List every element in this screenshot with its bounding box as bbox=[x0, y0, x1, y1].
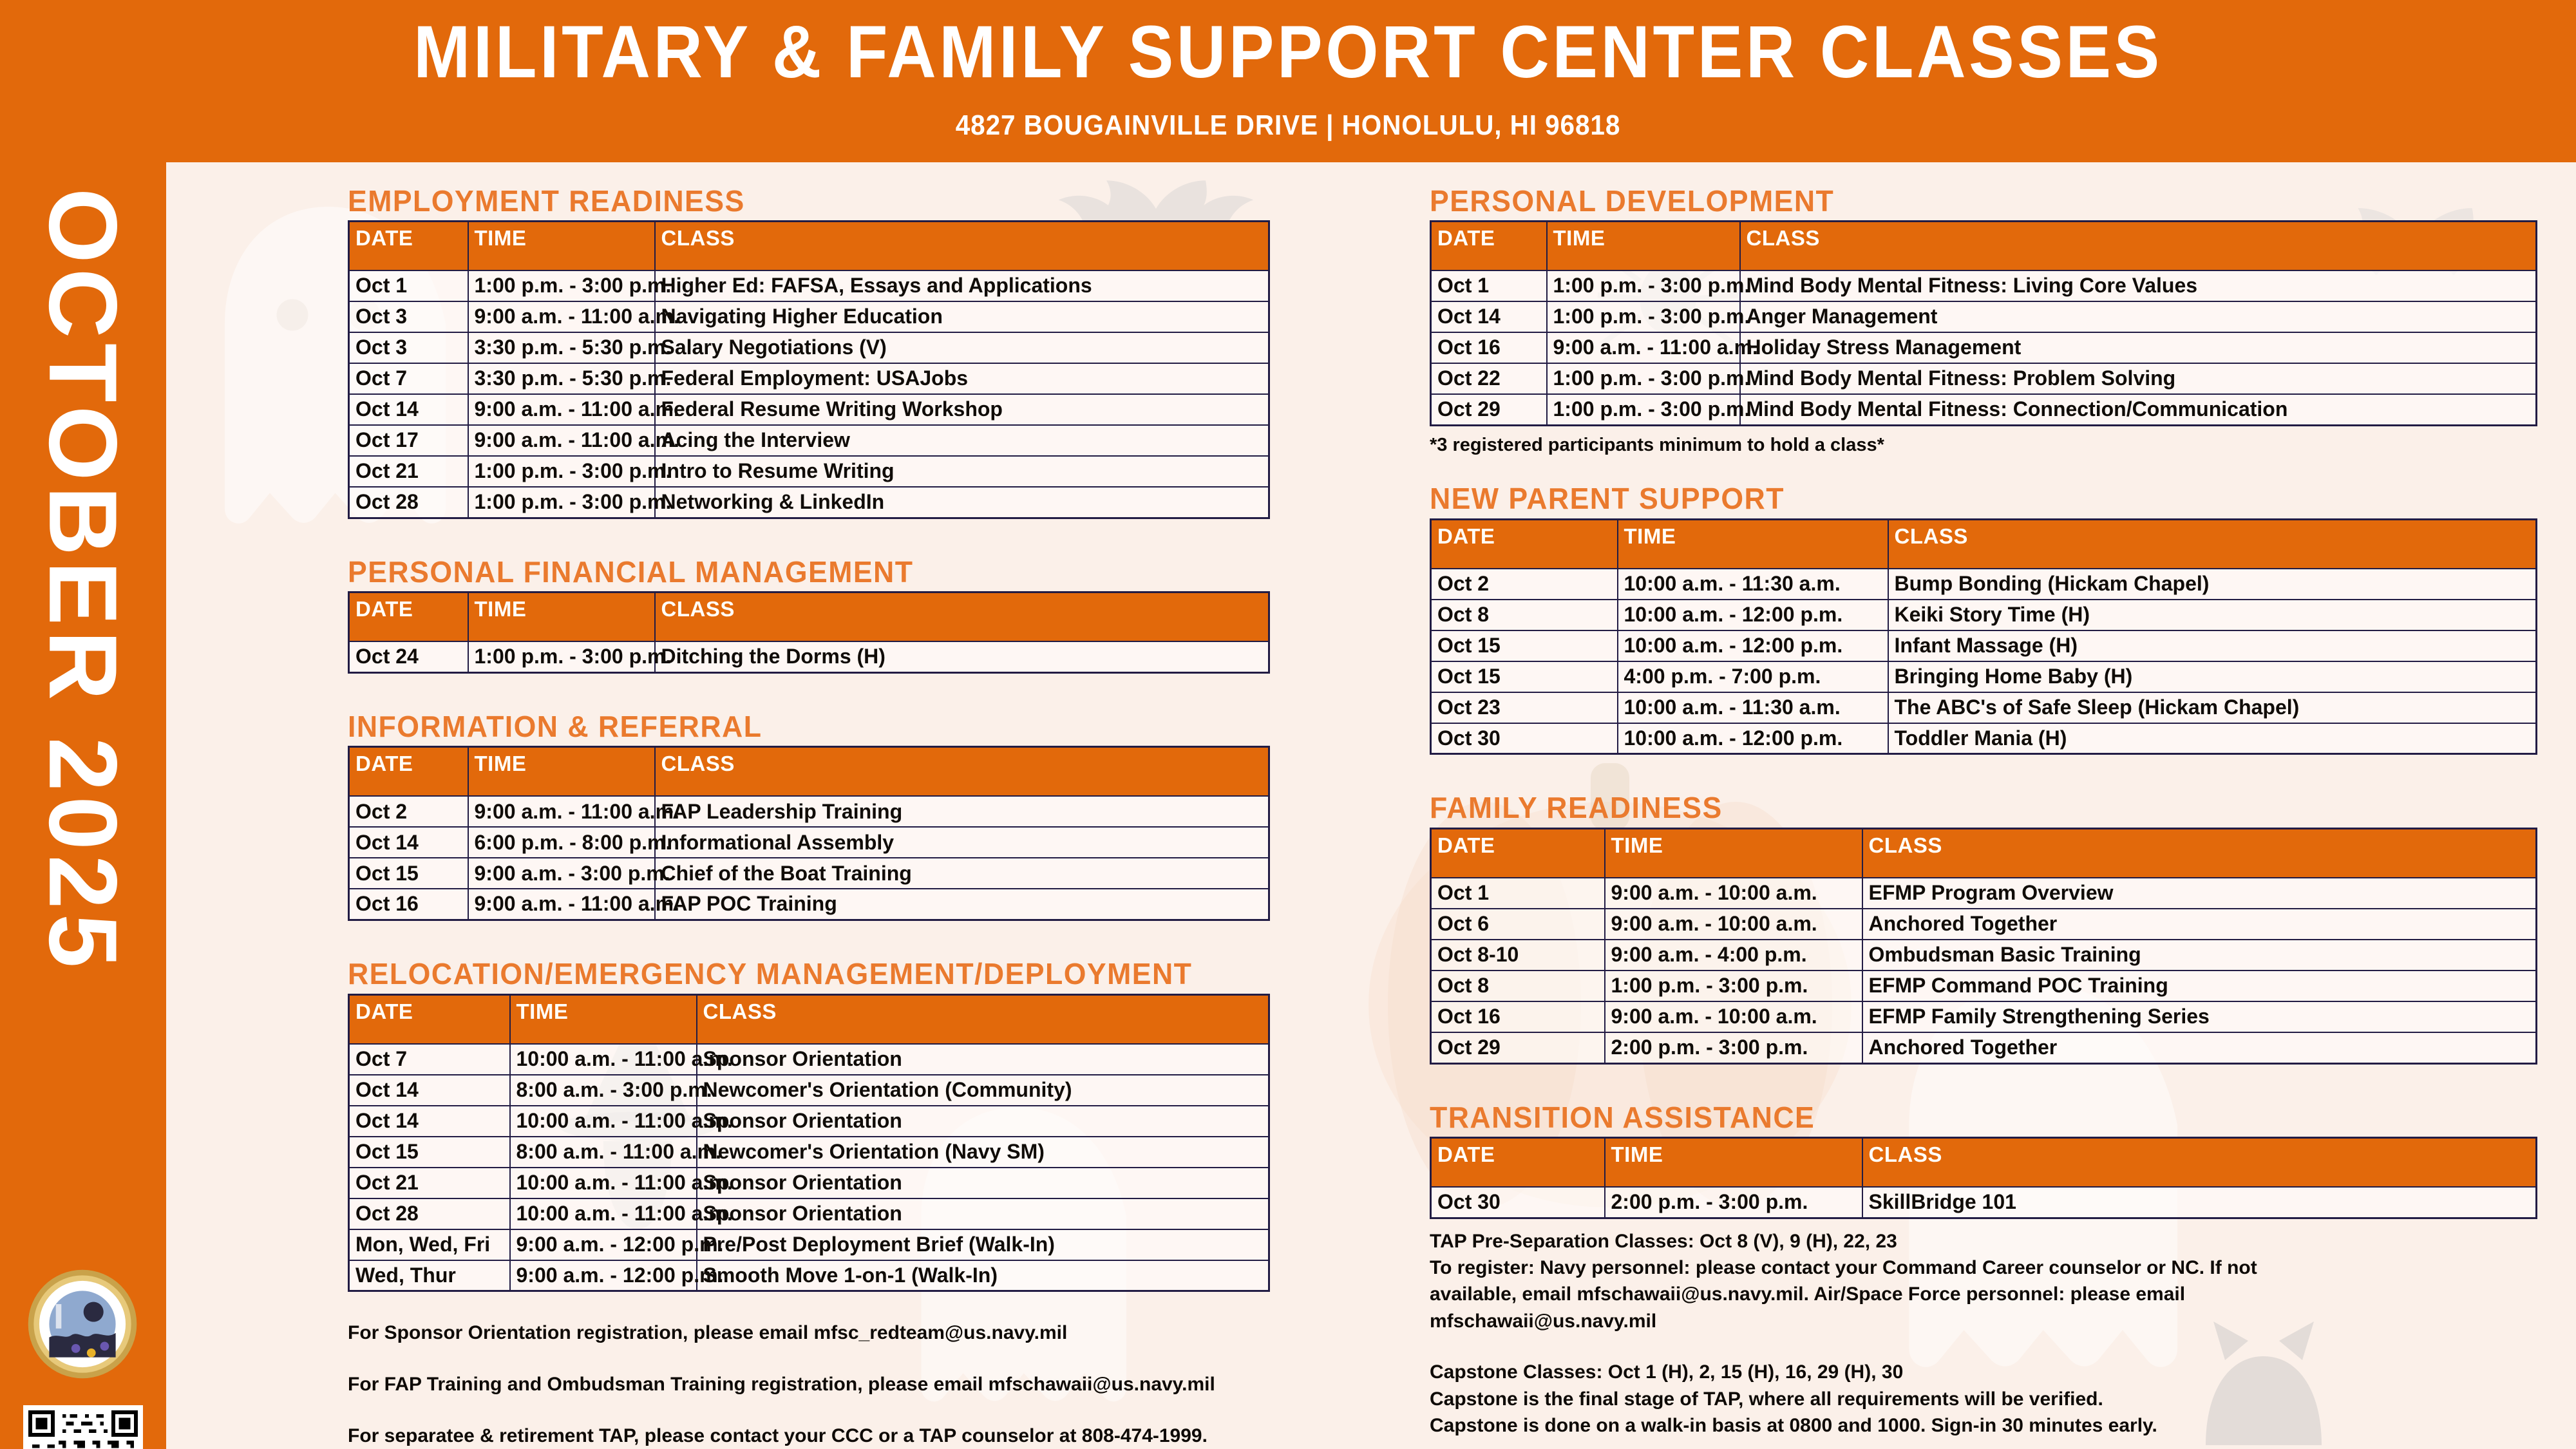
cell-date: Oct 16 bbox=[1431, 1001, 1605, 1032]
cell-time: 1:00 p.m. - 3:00 p.m. bbox=[1547, 301, 1740, 332]
table-header-row: DATE TIME CLASS bbox=[1431, 1137, 2537, 1187]
table-row: Oct 141:00 p.m. - 3:00 p.m.Anger Managem… bbox=[1431, 301, 2537, 332]
cell-class: Sponsor Orientation bbox=[697, 1168, 1269, 1198]
schedule-table: DATE TIME CLASS Oct 210:00 a.m. - 11:30 … bbox=[1430, 518, 2537, 755]
cell-time: 1:00 p.m. - 3:00 p.m. bbox=[1547, 270, 1740, 301]
table-row: Oct 221:00 p.m. - 3:00 p.m.Mind Body Men… bbox=[1431, 363, 2537, 394]
cell-date: Oct 29 bbox=[1431, 394, 1547, 425]
cell-class: SkillBridge 101 bbox=[1862, 1187, 2537, 1218]
cell-date: Oct 1 bbox=[1431, 878, 1605, 909]
cell-class: Intro to Resume Writing bbox=[655, 456, 1269, 487]
cell-class: Mind Body Mental Fitness: Connection/Com… bbox=[1740, 394, 2537, 425]
note-fap-ombudsman: For FAP Training and Ombudsman Training … bbox=[348, 1373, 1294, 1396]
table-row: Oct 154:00 p.m. - 7:00 p.m.Bringing Home… bbox=[1431, 661, 2537, 692]
table-row: Oct 179:00 a.m. - 11:00 a.m.Acing the In… bbox=[349, 425, 1269, 456]
table-row: Oct 158:00 a.m. - 11:00 a.m.Newcomer's O… bbox=[349, 1137, 1269, 1168]
table-header-row: DATE TIME CLASS bbox=[1431, 519, 2537, 569]
cell-time: 1:00 p.m. - 3:00 p.m. bbox=[1547, 394, 1740, 425]
cell-time: 10:00 a.m. - 11:00 a.m. bbox=[510, 1106, 697, 1137]
cell-class: Bringing Home Baby (H) bbox=[1888, 661, 2537, 692]
cell-date: Oct 15 bbox=[1431, 661, 1618, 692]
cell-date: Oct 22 bbox=[1431, 363, 1547, 394]
cell-date: Oct 14 bbox=[349, 1106, 510, 1137]
table-row: Oct 2310:00 a.m. - 11:30 a.m.The ABC's o… bbox=[1431, 692, 2537, 723]
table-row: Oct 211:00 p.m. - 3:00 p.m.Intro to Resu… bbox=[349, 456, 1269, 487]
section-relocation-emergency-deployment: RELOCATION/EMERGENCY MANAGEMENT/DEPLOYME… bbox=[348, 958, 1294, 1292]
table-row: Oct 710:00 a.m. - 11:00 a.m.Sponsor Orie… bbox=[349, 1044, 1269, 1075]
cell-date: Oct 7 bbox=[349, 1044, 510, 1075]
cell-date: Oct 28 bbox=[349, 1198, 510, 1229]
cell-time: 3:30 p.m. - 5:30 p.m. bbox=[468, 363, 655, 394]
section-personal-development: PERSONAL DEVELOPMENT DATE TIME CLASS Oct… bbox=[1430, 185, 2537, 457]
table-row: Oct 210:00 a.m. - 11:30 a.m.Bump Bonding… bbox=[1431, 569, 2537, 600]
cell-date: Oct 21 bbox=[349, 1168, 510, 1198]
cell-class: Anchored Together bbox=[1862, 1032, 2537, 1063]
cell-date: Oct 16 bbox=[349, 889, 468, 920]
cell-date: Mon, Wed, Fri bbox=[349, 1229, 510, 1260]
cell-time: 10:00 a.m. - 11:00 a.m. bbox=[510, 1198, 697, 1229]
table-row: Oct 69:00 a.m. - 10:00 a.m.Anchored Toge… bbox=[1431, 909, 2537, 940]
cell-class: Mind Body Mental Fitness: Living Core Va… bbox=[1740, 270, 2537, 301]
cell-class: Toddler Mania (H) bbox=[1888, 723, 2537, 754]
cell-time: 10:00 a.m. - 11:30 a.m. bbox=[1618, 692, 1888, 723]
table-row: Oct 149:00 a.m. - 11:00 a.m.Federal Resu… bbox=[349, 394, 1269, 425]
cell-date: Oct 14 bbox=[349, 1075, 510, 1106]
cell-time: 10:00 a.m. - 12:00 p.m. bbox=[1618, 600, 1888, 630]
col-header-time: TIME bbox=[1605, 828, 1862, 878]
col-header-date: DATE bbox=[349, 222, 468, 271]
table-row: Oct 3010:00 a.m. - 12:00 p.m.Toddler Man… bbox=[1431, 723, 2537, 754]
cell-time: 10:00 a.m. - 12:00 p.m. bbox=[1618, 723, 1888, 754]
col-header-date: DATE bbox=[1431, 519, 1618, 569]
cell-time: 9:00 a.m. - 11:00 a.m. bbox=[1547, 332, 1740, 363]
col-header-class: CLASS bbox=[1862, 1137, 2537, 1187]
cell-class: Ditching the Dorms (H) bbox=[655, 641, 1269, 672]
cell-date: Oct 7 bbox=[349, 363, 468, 394]
cell-date: Oct 30 bbox=[1431, 1187, 1605, 1218]
table-row: Wed, Thur9:00 a.m. - 12:00 p.m.Smooth Mo… bbox=[349, 1260, 1269, 1291]
table-row: Oct 302:00 p.m. - 3:00 p.m.SkillBridge 1… bbox=[1431, 1187, 2537, 1218]
note-capstone-classes: Capstone Classes: Oct 1 (H), 2, 15 (H), … bbox=[1430, 1359, 2537, 1385]
cell-date: Oct 2 bbox=[1431, 569, 1618, 600]
section-title: PERSONAL FINANCIAL MANAGEMENT bbox=[348, 556, 1266, 587]
cell-date: Oct 8 bbox=[1431, 971, 1605, 1001]
page-title: MILITARY & FAMILY SUPPORT CENTER CLASSES bbox=[103, 15, 2473, 90]
cell-class: Newcomer's Orientation (Community) bbox=[697, 1075, 1269, 1106]
cell-time: 9:00 a.m. - 11:00 a.m. bbox=[468, 301, 655, 332]
table-row: Oct 241:00 p.m. - 3:00 p.m.Ditching the … bbox=[349, 641, 1269, 672]
cell-class: Anger Management bbox=[1740, 301, 2537, 332]
col-header-class: CLASS bbox=[1862, 828, 2537, 878]
cell-class: Holiday Stress Management bbox=[1740, 332, 2537, 363]
section-title: INFORMATION & REFERRAL bbox=[348, 711, 1266, 742]
section-title: EMPLOYMENT READINESS bbox=[348, 185, 1266, 216]
left-column-notes: For Sponsor Orientation registration, pl… bbox=[348, 1321, 1294, 1448]
col-header-class: CLASS bbox=[655, 592, 1269, 642]
cell-time: 8:00 a.m. - 3:00 p.m. bbox=[510, 1075, 697, 1106]
note-tap-register-3: mfschawaii@us.navy.mil bbox=[1430, 1308, 2537, 1334]
cell-time: 10:00 a.m. - 11:30 a.m. bbox=[1618, 569, 1888, 600]
table-row: Oct 1410:00 a.m. - 11:00 a.m.Sponsor Ori… bbox=[349, 1106, 1269, 1137]
cell-date: Oct 21 bbox=[349, 456, 468, 487]
section-family-readiness: FAMILY READINESS DATE TIME CLASS Oct 19:… bbox=[1430, 792, 2537, 1064]
cell-time: 9:00 a.m. - 11:00 a.m. bbox=[468, 425, 655, 456]
cell-time: 9:00 a.m. - 3:00 p.m. bbox=[468, 858, 655, 889]
cell-class: Keiki Story Time (H) bbox=[1888, 600, 2537, 630]
section-title: PERSONAL DEVELOPMENT bbox=[1430, 185, 2504, 216]
cell-date: Oct 15 bbox=[349, 858, 468, 889]
cell-date: Oct 16 bbox=[1431, 332, 1547, 363]
cell-time: 1:00 p.m. - 3:00 p.m. bbox=[468, 487, 655, 518]
table-row: Oct 29:00 a.m. - 11:00 a.m.FAP Leadershi… bbox=[349, 796, 1269, 827]
transition-notes: TAP Pre-Separation Classes: Oct 8 (V), 9… bbox=[1430, 1228, 2537, 1439]
cell-class: Pre/Post Deployment Brief (Walk-In) bbox=[697, 1229, 1269, 1260]
section-employment-readiness: EMPLOYMENT READINESS DATE TIME CLASS Oct… bbox=[348, 185, 1294, 519]
cell-class: Newcomer's Orientation (Navy SM) bbox=[697, 1137, 1269, 1168]
cell-class: Sponsor Orientation bbox=[697, 1106, 1269, 1137]
table-header-row: DATE TIME CLASS bbox=[1431, 222, 2537, 271]
col-header-date: DATE bbox=[349, 592, 468, 642]
note-separatee-tap: For separatee & retirement TAP, please c… bbox=[348, 1425, 1294, 1448]
page-subtitle-address: 4827 BOUGAINVILLE DRIVE | HONOLULU, HI 9… bbox=[103, 109, 2473, 142]
table-header-row: DATE TIME CLASS bbox=[349, 747, 1269, 797]
page-banner: MILITARY & FAMILY SUPPORT CENTER CLASSES… bbox=[0, 0, 2576, 162]
section-title: NEW PARENT SUPPORT bbox=[1430, 483, 2504, 514]
cell-class: Salary Negotiations (V) bbox=[655, 332, 1269, 363]
note-capstone-2: Capstone is done on a walk-in basis at 0… bbox=[1430, 1412, 2537, 1439]
table-row: Oct 19:00 a.m. - 10:00 a.m.EFMP Program … bbox=[1431, 878, 2537, 909]
cell-time: 9:00 a.m. - 11:00 a.m. bbox=[468, 889, 655, 920]
month-label-vertical: OCTOBER 2025 bbox=[0, 162, 166, 1070]
table-row: Oct 291:00 p.m. - 3:00 p.m.Mind Body Men… bbox=[1431, 394, 2537, 425]
section-new-parent-support: NEW PARENT SUPPORT DATE TIME CLASS Oct 2… bbox=[1430, 483, 2537, 755]
cell-class: Ombudsman Basic Training bbox=[1862, 940, 2537, 971]
cell-time: 9:00 a.m. - 12:00 p.m. bbox=[510, 1229, 697, 1260]
table-header-row: DATE TIME CLASS bbox=[349, 592, 1269, 642]
cell-class: FAP Leadership Training bbox=[655, 796, 1269, 827]
note-tap-register-2: available, email mfschawaii@us.navy.mil.… bbox=[1430, 1281, 2537, 1307]
col-header-time: TIME bbox=[468, 222, 655, 271]
cell-date: Oct 23 bbox=[1431, 692, 1618, 723]
cell-time: 2:00 p.m. - 3:00 p.m. bbox=[1605, 1187, 1862, 1218]
table-row: Oct 169:00 a.m. - 11:00 a.m.Holiday Stre… bbox=[1431, 332, 2537, 363]
left-column: EMPLOYMENT READINESS DATE TIME CLASS Oct… bbox=[348, 185, 1294, 1449]
schedule-table: DATE TIME CLASS Oct 29:00 a.m. - 11:00 a… bbox=[348, 746, 1270, 921]
cell-date: Oct 8-10 bbox=[1431, 940, 1605, 971]
cell-date: Oct 17 bbox=[349, 425, 468, 456]
section-title: TRANSITION ASSISTANCE bbox=[1430, 1102, 2504, 1133]
cell-class: Bump Bonding (Hickam Chapel) bbox=[1888, 569, 2537, 600]
schedule-table: DATE TIME CLASS Oct 241:00 p.m. - 3:00 p… bbox=[348, 591, 1270, 674]
poster-root: MILITARY & FAMILY SUPPORT CENTER CLASSES… bbox=[0, 0, 2576, 1449]
table-row: Oct 281:00 p.m. - 3:00 p.m.Networking & … bbox=[349, 487, 1269, 518]
table-row: Oct 39:00 a.m. - 11:00 a.m.Navigating Hi… bbox=[349, 301, 1269, 332]
cell-time: 3:30 p.m. - 5:30 p.m. bbox=[468, 332, 655, 363]
col-header-time: TIME bbox=[1547, 222, 1740, 271]
table-row: Oct 8-109:00 a.m. - 4:00 p.m.Ombudsman B… bbox=[1431, 940, 2537, 971]
table-row: Oct 292:00 p.m. - 3:00 p.m.Anchored Toge… bbox=[1431, 1032, 2537, 1063]
col-header-time: TIME bbox=[468, 592, 655, 642]
cell-time: 8:00 a.m. - 11:00 a.m. bbox=[510, 1137, 697, 1168]
table-row: Oct 159:00 a.m. - 3:00 p.m.Chief of the … bbox=[349, 858, 1269, 889]
table-row: Oct 11:00 p.m. - 3:00 p.m.Mind Body Ment… bbox=[1431, 270, 2537, 301]
col-header-class: CLASS bbox=[655, 222, 1269, 271]
cell-date: Oct 15 bbox=[349, 1137, 510, 1168]
mfsc-seal-icon bbox=[27, 1269, 138, 1379]
table-row: Oct 169:00 a.m. - 11:00 a.m.FAP POC Trai… bbox=[349, 889, 1269, 920]
cell-time: 9:00 a.m. - 10:00 a.m. bbox=[1605, 878, 1862, 909]
note-tap-register-1: To register: Navy personnel: please cont… bbox=[1430, 1255, 2537, 1281]
cell-date: Oct 14 bbox=[349, 394, 468, 425]
cell-class: Informational Assembly bbox=[655, 827, 1269, 858]
col-header-date: DATE bbox=[349, 747, 468, 797]
cell-time: 1:00 p.m. - 3:00 p.m. bbox=[468, 641, 655, 672]
table-header-row: DATE TIME CLASS bbox=[1431, 828, 2537, 878]
cell-time: 4:00 p.m. - 7:00 p.m. bbox=[1618, 661, 1888, 692]
note-capstone-1: Capstone is the final stage of TAP, wher… bbox=[1430, 1386, 2537, 1412]
cell-class: EFMP Family Strengthening Series bbox=[1862, 1001, 2537, 1032]
cell-date: Oct 14 bbox=[349, 827, 468, 858]
section-title: RELOCATION/EMERGENCY MANAGEMENT/DEPLOYME… bbox=[348, 958, 1266, 989]
col-header-time: TIME bbox=[468, 747, 655, 797]
cell-class: Acing the Interview bbox=[655, 425, 1269, 456]
cell-date: Oct 3 bbox=[349, 332, 468, 363]
schedule-table: DATE TIME CLASS Oct 11:00 p.m. - 3:00 p.… bbox=[1430, 220, 2537, 426]
table-row: Oct 146:00 p.m. - 8:00 p.m.Informational… bbox=[349, 827, 1269, 858]
schedule-table: DATE TIME CLASS Oct 11:00 p.m. - 3:00 p.… bbox=[348, 220, 1270, 519]
section-personal-financial-management: PERSONAL FINANCIAL MANAGEMENT DATE TIME … bbox=[348, 556, 1294, 674]
table-row: Oct 33:30 p.m. - 5:30 p.m.Salary Negotia… bbox=[349, 332, 1269, 363]
cell-time: 9:00 a.m. - 12:00 p.m. bbox=[510, 1260, 697, 1291]
cell-date: Oct 28 bbox=[349, 487, 468, 518]
col-header-class: CLASS bbox=[1740, 222, 2537, 271]
cell-class: Sponsor Orientation bbox=[697, 1198, 1269, 1229]
cell-class: Sponsor Orientation bbox=[697, 1044, 1269, 1075]
cell-date: Oct 2 bbox=[349, 796, 468, 827]
cell-class: Infant Massage (H) bbox=[1888, 630, 2537, 661]
cell-date: Oct 15 bbox=[1431, 630, 1618, 661]
cell-time: 10:00 a.m. - 11:00 a.m. bbox=[510, 1044, 697, 1075]
col-header-date: DATE bbox=[349, 994, 510, 1044]
cell-date: Oct 14 bbox=[1431, 301, 1547, 332]
table-row: Oct 169:00 a.m. - 10:00 a.m.EFMP Family … bbox=[1431, 1001, 2537, 1032]
cell-date: Oct 30 bbox=[1431, 723, 1618, 754]
table-row: Oct 11:00 p.m. - 3:00 p.m.Higher Ed: FAF… bbox=[349, 270, 1269, 301]
qr-code[interactable] bbox=[23, 1405, 143, 1449]
cell-time: 1:00 p.m. - 3:00 p.m. bbox=[468, 456, 655, 487]
cell-class: Navigating Higher Education bbox=[655, 301, 1269, 332]
col-header-date: DATE bbox=[1431, 828, 1605, 878]
note-tap-preseparation: TAP Pre-Separation Classes: Oct 8 (V), 9… bbox=[1430, 1228, 2537, 1255]
cell-date: Oct 3 bbox=[349, 301, 468, 332]
section-transition-assistance: TRANSITION ASSISTANCE DATE TIME CLASS Oc… bbox=[1430, 1102, 2537, 1219]
cell-time: 2:00 p.m. - 3:00 p.m. bbox=[1605, 1032, 1862, 1063]
cell-time: 6:00 p.m. - 8:00 p.m. bbox=[468, 827, 655, 858]
month-label-text: OCTOBER 2025 bbox=[37, 188, 129, 973]
cell-time: 9:00 a.m. - 4:00 p.m. bbox=[1605, 940, 1862, 971]
cell-class: Smooth Move 1-on-1 (Walk-In) bbox=[697, 1260, 1269, 1291]
table-row: Oct 2110:00 a.m. - 11:00 a.m.Sponsor Ori… bbox=[349, 1168, 1269, 1198]
cell-date: Oct 29 bbox=[1431, 1032, 1605, 1063]
col-header-time: TIME bbox=[1605, 1137, 1862, 1187]
cell-class: FAP POC Training bbox=[655, 889, 1269, 920]
col-header-date: DATE bbox=[1431, 222, 1547, 271]
cell-date: Oct 6 bbox=[1431, 909, 1605, 940]
table-header-row: DATE TIME CLASS bbox=[349, 994, 1269, 1044]
cell-class: Higher Ed: FAFSA, Essays and Application… bbox=[655, 270, 1269, 301]
right-column: PERSONAL DEVELOPMENT DATE TIME CLASS Oct… bbox=[1430, 185, 2537, 1439]
col-header-time: TIME bbox=[510, 994, 697, 1044]
cell-time: 9:00 a.m. - 10:00 a.m. bbox=[1605, 1001, 1862, 1032]
col-header-class: CLASS bbox=[1888, 519, 2537, 569]
cell-time: 1:00 p.m. - 3:00 p.m. bbox=[1547, 363, 1740, 394]
cell-class: Chief of the Boat Training bbox=[655, 858, 1269, 889]
cell-date: Oct 1 bbox=[349, 270, 468, 301]
table-header-row: DATE TIME CLASS bbox=[349, 222, 1269, 271]
cell-class: The ABC's of Safe Sleep (Hickam Chapel) bbox=[1888, 692, 2537, 723]
cell-class: Federal Resume Writing Workshop bbox=[655, 394, 1269, 425]
cell-class: EFMP Command POC Training bbox=[1862, 971, 2537, 1001]
cell-date: Oct 24 bbox=[349, 641, 468, 672]
table-row: Oct 148:00 a.m. - 3:00 p.m.Newcomer's Or… bbox=[349, 1075, 1269, 1106]
cell-time: 9:00 a.m. - 10:00 a.m. bbox=[1605, 909, 1862, 940]
cell-time: 9:00 a.m. - 11:00 a.m. bbox=[468, 796, 655, 827]
cell-class: Anchored Together bbox=[1862, 909, 2537, 940]
schedule-table: DATE TIME CLASS Oct 19:00 a.m. - 10:00 a… bbox=[1430, 828, 2537, 1065]
cell-class: EFMP Program Overview bbox=[1862, 878, 2537, 909]
table-row: Oct 2810:00 a.m. - 11:00 a.m.Sponsor Ori… bbox=[349, 1198, 1269, 1229]
table-row: Mon, Wed, Fri9:00 a.m. - 12:00 p.m.Pre/P… bbox=[349, 1229, 1269, 1260]
cell-time: 10:00 a.m. - 11:00 a.m. bbox=[510, 1168, 697, 1198]
cell-class: Networking & LinkedIn bbox=[655, 487, 1269, 518]
cell-time: 10:00 a.m. - 12:00 p.m. bbox=[1618, 630, 1888, 661]
cell-date: Wed, Thur bbox=[349, 1260, 510, 1291]
cell-time: 1:00 p.m. - 3:00 p.m. bbox=[468, 270, 655, 301]
note-sponsor-orientation: For Sponsor Orientation registration, pl… bbox=[348, 1321, 1294, 1345]
section-title: FAMILY READINESS bbox=[1430, 792, 2504, 823]
col-header-time: TIME bbox=[1618, 519, 1888, 569]
left-rail: OCTOBER 2025 bbox=[0, 162, 166, 1449]
table-row: Oct 810:00 a.m. - 12:00 p.m.Keiki Story … bbox=[1431, 600, 2537, 630]
col-header-class: CLASS bbox=[697, 994, 1269, 1044]
table-row: Oct 81:00 p.m. - 3:00 p.m.EFMP Command P… bbox=[1431, 971, 2537, 1001]
cell-date: Oct 8 bbox=[1431, 600, 1618, 630]
col-header-class: CLASS bbox=[655, 747, 1269, 797]
cell-time: 9:00 a.m. - 11:00 a.m. bbox=[468, 394, 655, 425]
cell-time: 1:00 p.m. - 3:00 p.m. bbox=[1605, 971, 1862, 1001]
section-information-referral: INFORMATION & REFERRAL DATE TIME CLASS O… bbox=[348, 711, 1294, 921]
cell-date: Oct 1 bbox=[1431, 270, 1547, 301]
cell-class: Mind Body Mental Fitness: Problem Solvin… bbox=[1740, 363, 2537, 394]
note-minimum-participants: *3 registered participants minimum to ho… bbox=[1430, 433, 2537, 457]
table-row: Oct 1510:00 a.m. - 12:00 p.m.Infant Mass… bbox=[1431, 630, 2537, 661]
col-header-date: DATE bbox=[1431, 1137, 1605, 1187]
schedule-table: DATE TIME CLASS Oct 302:00 p.m. - 3:00 p… bbox=[1430, 1137, 2537, 1219]
table-row: Oct 73:30 p.m. - 5:30 p.m.Federal Employ… bbox=[349, 363, 1269, 394]
schedule-table: DATE TIME CLASS Oct 710:00 a.m. - 11:00 … bbox=[348, 994, 1270, 1293]
cell-class: Federal Employment: USAJobs bbox=[655, 363, 1269, 394]
